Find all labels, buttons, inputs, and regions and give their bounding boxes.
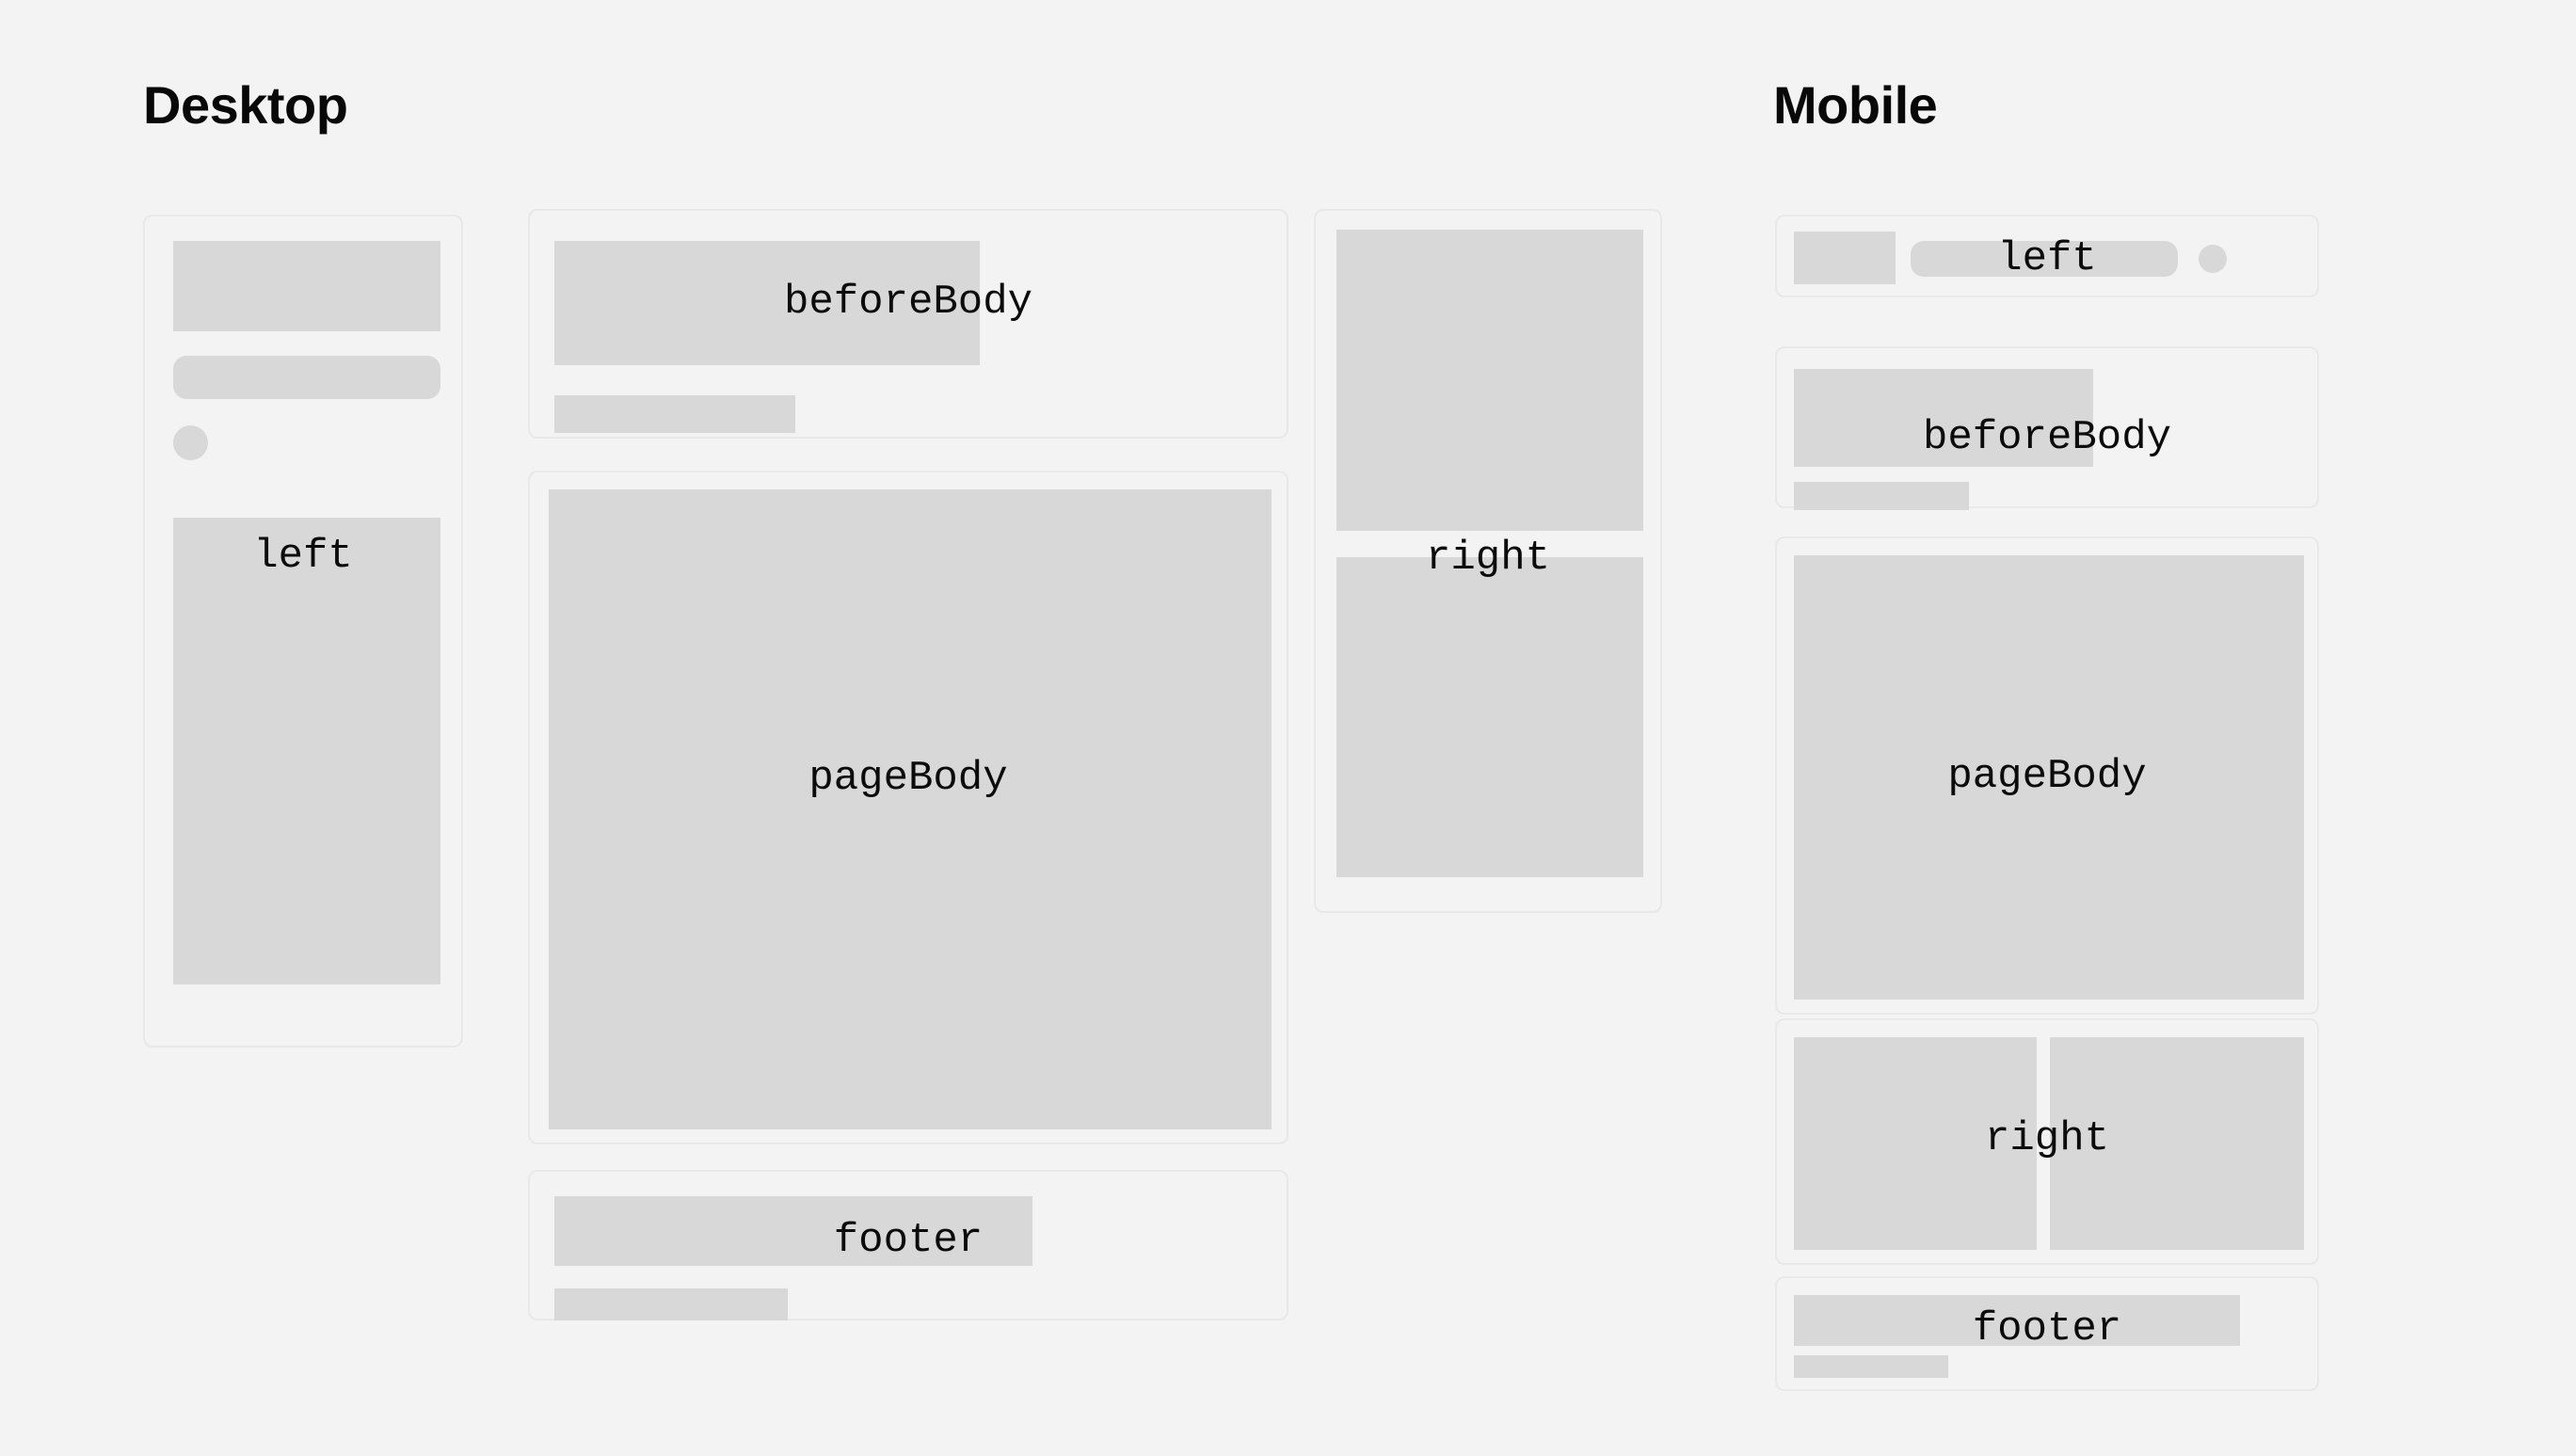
skeleton-block [1794, 482, 1969, 510]
layout-preview-canvas: Desktop Mobile left beforeBody pageBody … [0, 0, 2576, 1456]
mobile-slot-left-panel[interactable] [1775, 215, 2319, 297]
skeleton-block [1336, 230, 1643, 531]
skeleton-block [1794, 555, 2304, 1000]
skeleton-block [1911, 241, 2178, 277]
skeleton-block [554, 395, 795, 433]
skeleton-block [554, 241, 980, 365]
skeleton-block [1794, 1295, 2240, 1346]
desktop-slot-beforebody-panel[interactable] [528, 209, 1288, 439]
skeleton-block [554, 1288, 788, 1320]
skeleton-block [173, 518, 440, 984]
skeleton-block [2050, 1037, 2304, 1250]
mobile-slot-footer-panel[interactable] [1775, 1276, 2319, 1391]
desktop-slot-right-panel[interactable] [1314, 209, 1662, 913]
skeleton-avatar-circle [173, 425, 208, 460]
skeleton-block [173, 356, 440, 399]
desktop-slot-footer-panel[interactable] [528, 1170, 1288, 1320]
skeleton-block [173, 241, 440, 331]
section-title-desktop: Desktop [143, 79, 347, 132]
mobile-slot-beforebody-panel[interactable] [1775, 346, 2319, 508]
skeleton-block [1794, 1037, 2037, 1250]
mobile-slot-right-panel[interactable] [1775, 1018, 2319, 1265]
skeleton-block [1794, 369, 2093, 467]
skeleton-block [1794, 1355, 1948, 1378]
desktop-slot-left-panel[interactable] [143, 215, 463, 1048]
skeleton-avatar-circle [2199, 245, 2227, 273]
section-title-mobile: Mobile [1773, 79, 1937, 132]
desktop-slot-pagebody-panel[interactable] [528, 471, 1288, 1144]
skeleton-block [1794, 232, 1896, 284]
skeleton-block [1336, 557, 1643, 877]
skeleton-block [549, 489, 1272, 1129]
skeleton-block [554, 1196, 1032, 1266]
mobile-slot-pagebody-panel[interactable] [1775, 536, 2319, 1015]
